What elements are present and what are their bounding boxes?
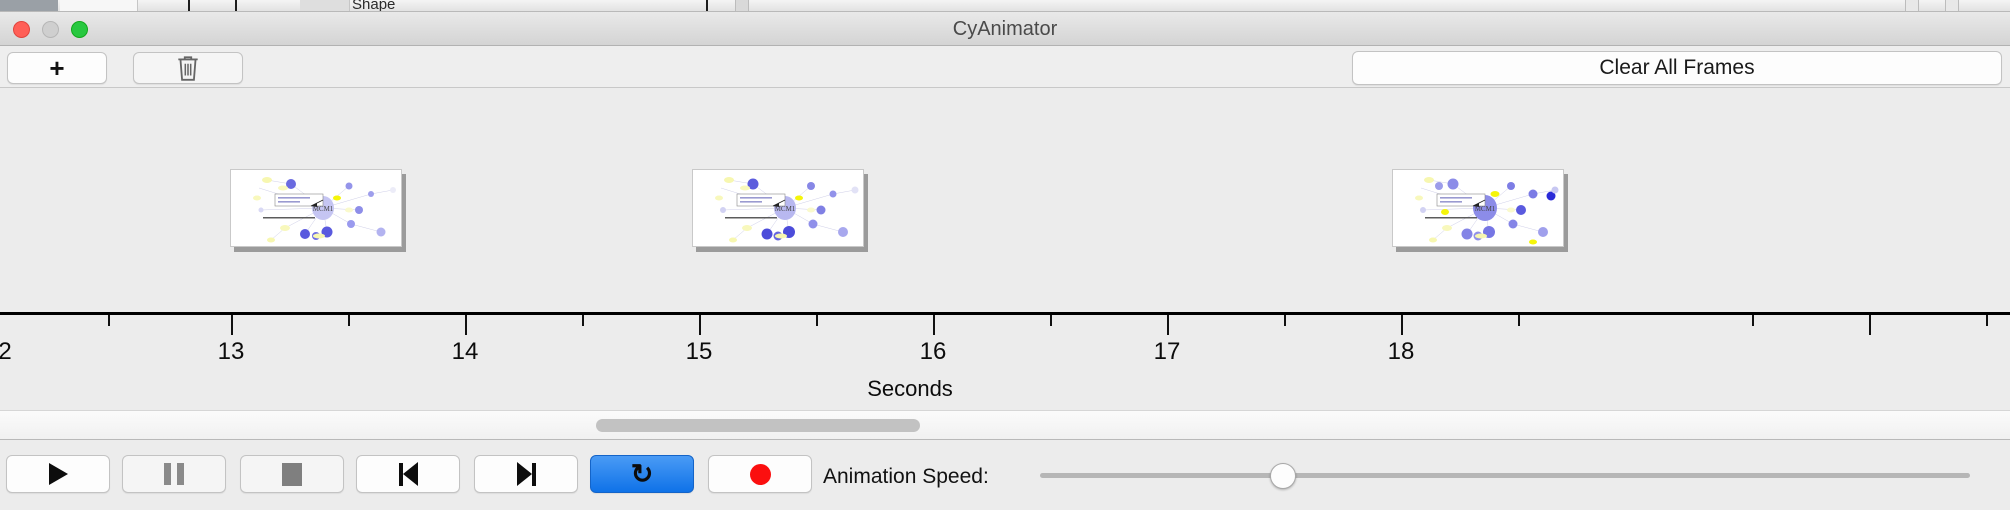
record-button[interactable] — [708, 455, 812, 493]
axis-major-tick — [933, 315, 935, 335]
network-graph-thumbnail: MCM1 — [1393, 170, 1564, 247]
background-tab — [300, 0, 350, 12]
background-nub — [735, 0, 749, 12]
axis-minor-tick — [1518, 315, 1520, 326]
animation-speed-slider-thumb[interactable] — [1270, 463, 1296, 489]
background-tab-active — [0, 0, 58, 12]
record-icon — [750, 464, 771, 485]
play-icon — [49, 463, 68, 485]
axis-tick-label: 13 — [218, 338, 245, 366]
background-tab — [60, 0, 138, 12]
skip-backward-icon — [399, 462, 418, 486]
stop-button[interactable] — [240, 455, 344, 493]
frame-thumbnail[interactable]: MCM1 — [692, 169, 864, 247]
playback-controls: ↻ Animation Speed: — [0, 441, 2010, 510]
horizontal-scrollbar[interactable] — [0, 410, 2010, 440]
loop-button[interactable]: ↻ — [590, 455, 694, 493]
pause-button[interactable] — [122, 455, 226, 493]
thumbnail-center-node-label: MCM1 — [1475, 205, 1496, 213]
thumbnail-center-node-label: MCM1 — [775, 205, 796, 213]
axis-tick-label: 18 — [1388, 338, 1415, 366]
axis-major-tick — [1869, 315, 1871, 335]
add-frame-button[interactable]: + — [7, 52, 107, 84]
next-frame-button[interactable] — [474, 455, 578, 493]
clear-all-frames-label: Clear All Frames — [1599, 56, 1754, 80]
trash-icon — [175, 54, 201, 82]
background-tick — [188, 0, 190, 12]
background-tick — [235, 0, 237, 12]
axis-title-label: Seconds — [867, 376, 953, 401]
thumbnail-center-node-label: MCM1 — [313, 205, 334, 213]
timeline-panel[interactable]: MCM1 — [0, 88, 2010, 410]
animation-speed-slider[interactable] — [1040, 473, 1970, 478]
background-nub — [1945, 0, 1959, 12]
skip-forward-icon — [517, 462, 536, 486]
axis-tick-label: 15 — [686, 338, 713, 366]
axis-tick-label: 16 — [920, 338, 947, 366]
axis-minor-tick — [348, 315, 350, 326]
network-graph-thumbnail: MCM1 — [693, 170, 864, 247]
background-nub — [1905, 0, 1919, 12]
timeline-axis-line — [0, 312, 2010, 315]
background-tick — [706, 0, 708, 12]
axis-minor-tick — [1752, 315, 1754, 326]
axis-major-tick — [1401, 315, 1403, 335]
axis-major-tick — [465, 315, 467, 335]
title-bar: CyAnimator — [0, 12, 2010, 46]
previous-frame-button[interactable] — [356, 455, 460, 493]
stop-icon — [282, 463, 302, 486]
axis-tick-label: 14 — [452, 338, 479, 366]
play-button[interactable] — [6, 455, 110, 493]
axis-tick-label: 17 — [1154, 338, 1181, 366]
loop-icon: ↻ — [631, 461, 654, 488]
toolbar: + Clear All Frames — [0, 46, 2010, 88]
axis-minor-tick — [108, 315, 110, 326]
plus-icon: + — [49, 55, 64, 81]
network-graph-thumbnail: MCM1 — [231, 170, 402, 247]
axis-minor-tick — [1284, 315, 1286, 326]
background-window-strip: Shape — [0, 0, 2010, 12]
axis-major-tick — [699, 315, 701, 335]
background-window-label: Shape — [352, 0, 395, 12]
axis-tick-label: 2 — [0, 338, 12, 366]
axis-major-tick — [231, 315, 233, 335]
scrollbar-thumb[interactable] — [596, 419, 920, 432]
axis-minor-tick — [582, 315, 584, 326]
axis-title: Seconds — [0, 376, 2010, 402]
frame-thumbnail[interactable]: MCM1 — [1392, 169, 1564, 247]
axis-minor-tick — [1050, 315, 1052, 326]
delete-frame-button[interactable] — [133, 52, 243, 84]
clear-all-frames-button[interactable]: Clear All Frames — [1352, 51, 2002, 85]
axis-major-tick — [1167, 315, 1169, 335]
cyanimator-window: Shape CyAnimator + Clear All Frames — [0, 0, 2010, 510]
frame-thumbnail[interactable]: MCM1 — [230, 169, 402, 247]
axis-minor-tick — [1986, 315, 1988, 326]
window-title: CyAnimator — [0, 12, 2010, 46]
axis-minor-tick — [816, 315, 818, 326]
animation-speed-label: Animation Speed: — [823, 465, 989, 489]
pause-icon — [164, 463, 184, 485]
